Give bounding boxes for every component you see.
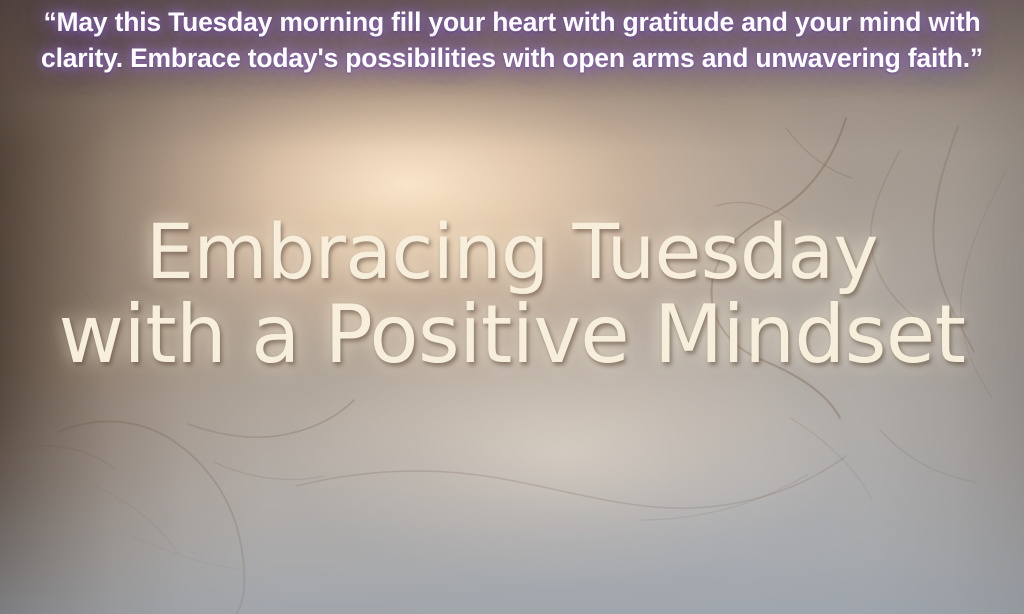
quote-overlay-text: “May this Tuesday morning fill your hear… (0, 0, 1024, 86)
main-title-line-1: Embracing Tuesday (0, 214, 1024, 289)
main-title-line-2: with a Positive Mindset (0, 295, 1024, 374)
main-title: Embracing Tuesday with a Positive Mindse… (0, 214, 1024, 374)
quote-image-canvas: “May this Tuesday morning fill your hear… (0, 0, 1024, 614)
